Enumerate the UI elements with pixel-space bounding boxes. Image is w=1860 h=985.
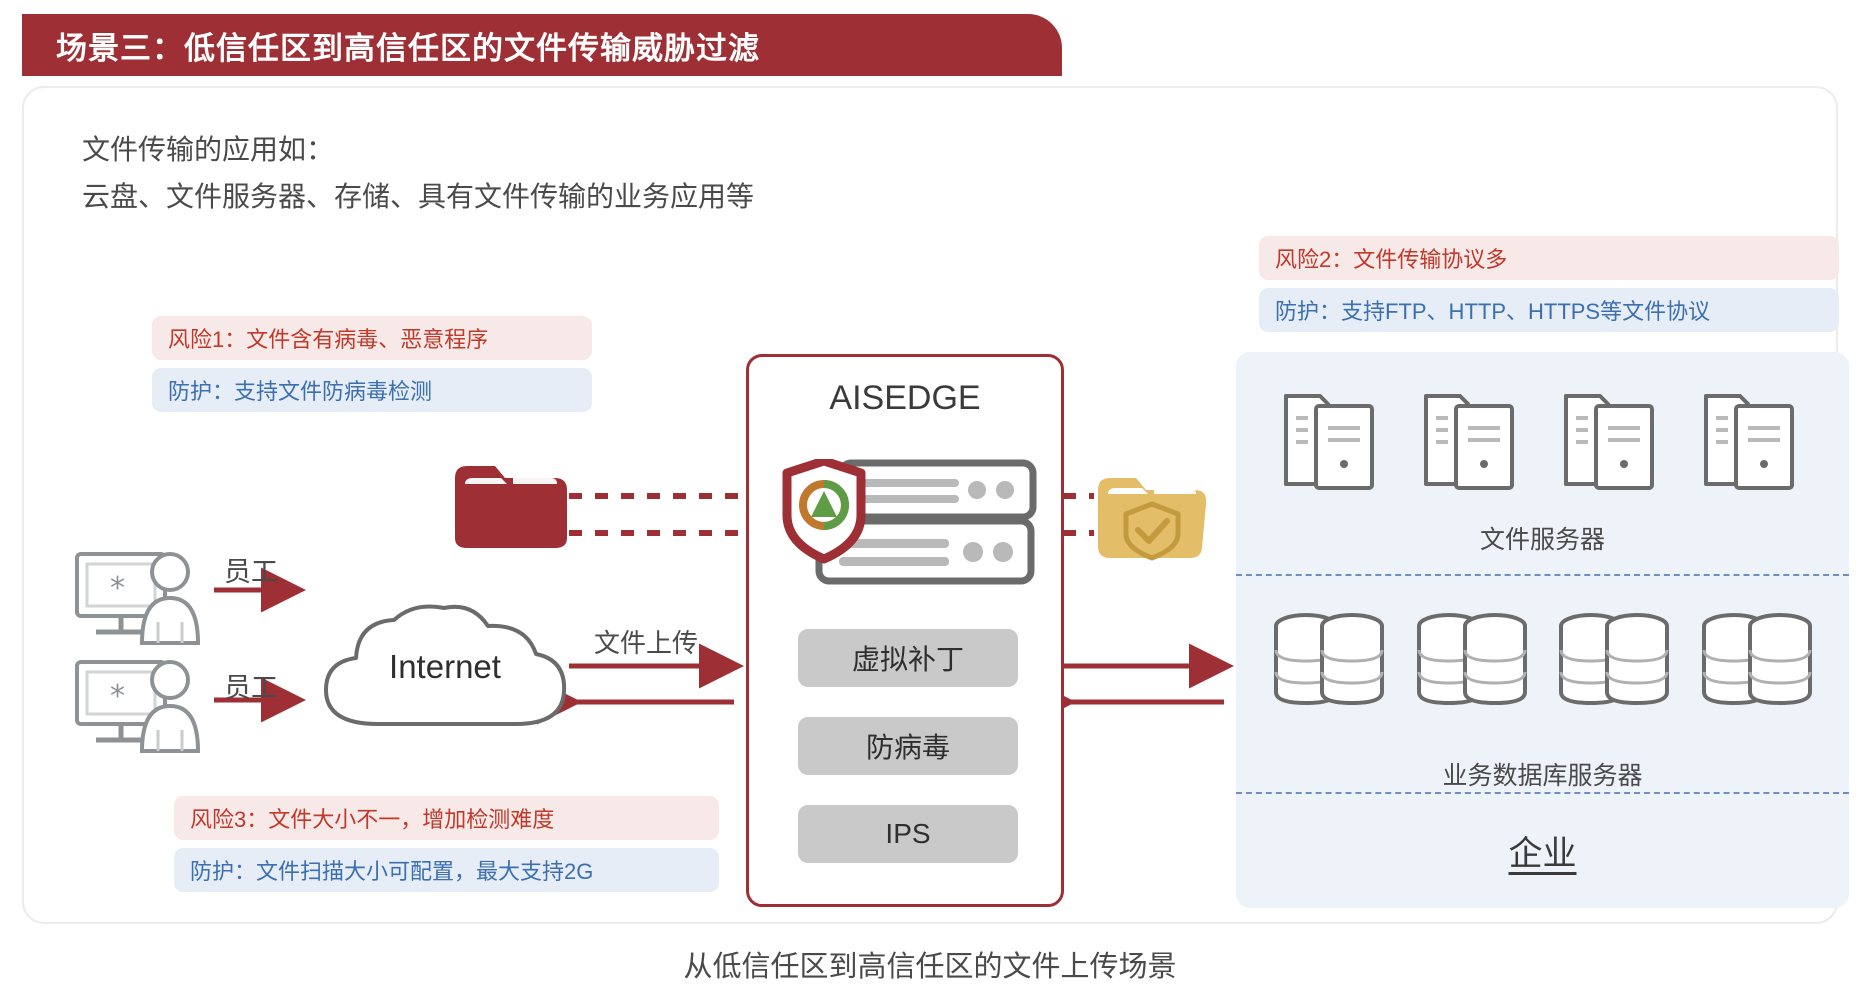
protection-tag-2: 防护：支持FTP、HTTP、HTTPS等文件协议 [1259, 288, 1839, 332]
page-root: 场景三：低信任区到高信任区的文件传输威胁过滤 文件传输的应用如： 云盘、文件服务… [0, 0, 1860, 936]
feature-chip[interactable]: 虚拟补丁 [798, 629, 1018, 687]
risk-tag-3: 风险3：文件大小不一，增加检测难度 [174, 796, 719, 840]
feature-chip[interactable]: 防病毒 [798, 717, 1018, 775]
intro-line-1: 文件传输的应用如： [82, 126, 754, 173]
database-cylinder-icon [1698, 610, 1818, 710]
file-server-row [1280, 388, 1810, 508]
server-stack-icon [1560, 388, 1670, 493]
upload-flow-label: 文件上传 [594, 623, 698, 660]
server-stack-icon [1700, 388, 1810, 493]
feature-chip[interactable]: IPS [798, 805, 1018, 863]
enterprise-footer-label: 企业 [1236, 826, 1849, 875]
risk-tag-2: 风险2：文件传输协议多 [1259, 236, 1839, 280]
risk-tag-1: 风险1：文件含有病毒、恶意程序 [152, 316, 592, 360]
aisedge-title: AISEDGE [749, 379, 1061, 418]
server-shield-icon [781, 459, 1041, 587]
user-label: 员工 [224, 666, 278, 705]
scenario-banner: 场景三：低信任区到高信任区的文件传输威胁过滤 [22, 14, 1062, 76]
cloud-label: Internet [316, 648, 574, 686]
user-label: 员工 [224, 550, 278, 589]
folder-icon [451, 456, 571, 552]
database-server-row [1270, 610, 1818, 740]
database-cylinder-icon [1270, 610, 1390, 710]
intro-line-2: 云盘、文件服务器、存储、具有文件传输的业务应用等 [82, 173, 754, 220]
page-title: 场景三：低信任区到高信任区的文件传输威胁过滤 [56, 23, 760, 68]
aisedge-device-box: AISEDGE 虚拟补丁 防病毒 [746, 354, 1064, 907]
user-desktop-icon: * [74, 550, 224, 645]
main-card: 文件传输的应用如： 云盘、文件服务器、存储、具有文件传输的业务应用等 [22, 86, 1838, 924]
diagram-caption: 从低信任区到高信任区的文件上传场景 [24, 943, 1836, 985]
database-server-label: 业务数据库服务器 [1236, 756, 1849, 792]
protection-tag-3: 防护：文件扫描大小可配置，最大支持2G [174, 848, 719, 892]
database-cylinder-icon [1413, 610, 1533, 710]
server-stack-icon [1420, 388, 1530, 493]
zone-divider [1236, 574, 1849, 576]
folder-shield-check-icon [1094, 470, 1212, 562]
intro-text-block: 文件传输的应用如： 云盘、文件服务器、存储、具有文件传输的业务应用等 [82, 126, 754, 220]
server-stack-icon [1280, 388, 1390, 493]
enterprise-zone-panel: 文件服务器 [1236, 352, 1849, 908]
database-cylinder-icon [1555, 610, 1675, 710]
svg-text:*: * [110, 571, 125, 606]
zone-divider [1236, 792, 1849, 794]
file-server-label: 文件服务器 [1236, 520, 1849, 556]
user-desktop-icon: * [74, 658, 224, 753]
svg-text:*: * [110, 679, 125, 714]
protection-tag-1: 防护：支持文件防病毒检测 [152, 368, 592, 412]
